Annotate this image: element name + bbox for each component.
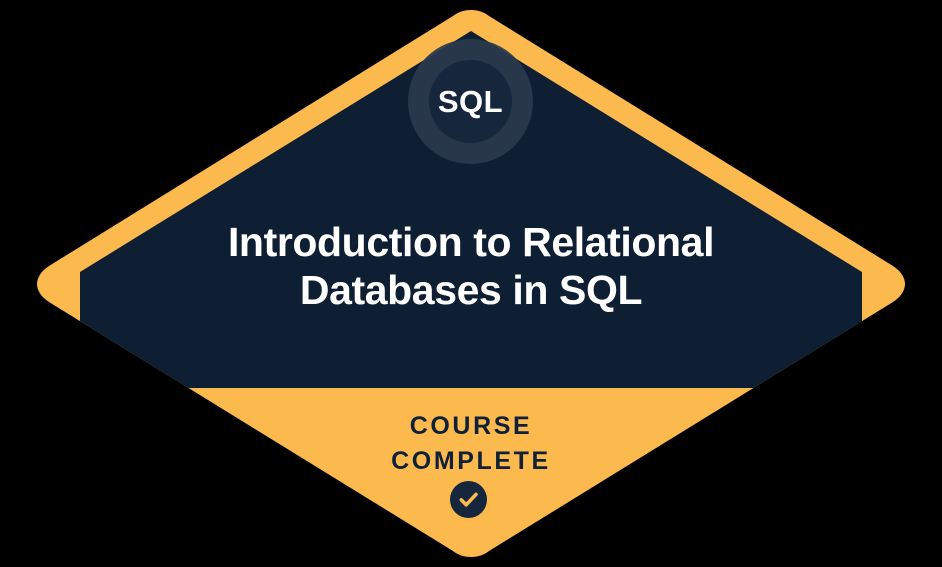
- course-title-line-1: Introduction to Relational: [131, 218, 811, 266]
- course-title: Introduction to Relational Databases in …: [131, 218, 811, 314]
- check-circle-background: [450, 481, 487, 518]
- status-line-2: COMPLETE: [231, 444, 711, 479]
- status-line-1: COURSE: [231, 409, 711, 444]
- course-completion-badge: SQL Introduction to Relational Databases…: [0, 0, 942, 567]
- emblem-label: SQL: [438, 86, 503, 117]
- check-circle-icon: [450, 481, 487, 518]
- sql-logo-icon: SQL: [408, 39, 533, 164]
- status-badge: COURSE COMPLETE: [231, 409, 711, 479]
- course-title-line-2: Databases in SQL: [131, 266, 811, 314]
